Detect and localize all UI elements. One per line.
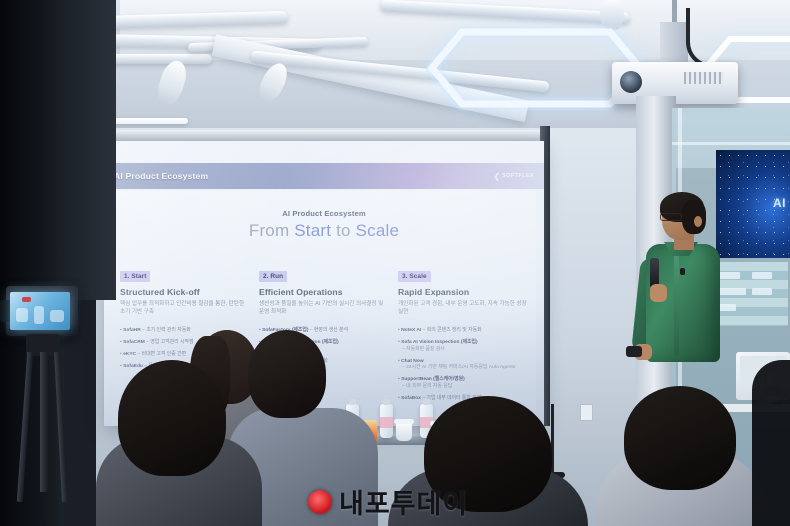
presenter bbox=[620, 196, 728, 396]
glass-mullion-horizontal bbox=[672, 142, 790, 145]
column-heading: Rapid Expansion bbox=[398, 287, 527, 297]
bullet-name: SupportBean (헬스케어/병원) bbox=[401, 377, 465, 382]
list-item: • Sofa AI Vision Inspection (제조업) – 자동화된… bbox=[398, 340, 527, 353]
presenter-glasses bbox=[660, 213, 682, 221]
foreground-silhouette bbox=[752, 360, 790, 526]
brand-chevron-icon: ❮ bbox=[493, 172, 500, 181]
bullet-desc: – 24시간 AI 기반 채팅 커머스/AI 자동응답 Auto Agents bbox=[398, 365, 527, 372]
title-part-scale: Scale bbox=[356, 221, 400, 240]
camera-viewfinder-screen[interactable] bbox=[10, 292, 70, 330]
slide-column-scale: 3. Scale Rapid Expansion 개인화된 고객 경험, 내부 … bbox=[398, 265, 527, 408]
bottle-label bbox=[380, 417, 393, 428]
brand-logo: ❮ SOFTFLEX bbox=[493, 172, 534, 181]
paper-cup bbox=[396, 422, 412, 441]
list-item: • Chat Now – 24시간 AI 기반 채팅 커머스/AI 자동응답 A… bbox=[398, 359, 527, 372]
screen-roller-housing bbox=[104, 130, 548, 141]
slide-topbar: AI Product Ecosystem ❮ SOFTFLEX bbox=[104, 163, 544, 189]
bullet-desc: – 현장의 생산 분석 bbox=[310, 328, 348, 333]
shelf-card bbox=[752, 288, 772, 295]
watermark-text: 내포투데이 bbox=[339, 482, 468, 521]
list-item: • NoteX AI – 회의 콘텐츠 정리 및 자동화 bbox=[398, 328, 527, 335]
list-item: • SupportBean (헬스케어/병원) – 내·외부 문의 자동 응답 bbox=[398, 377, 527, 390]
viewfinder-blob bbox=[34, 306, 44, 324]
column-heading: Efficient Operations bbox=[259, 287, 388, 297]
bullet-name: SofaEdu bbox=[123, 364, 143, 369]
presentation-photo-scene: AI AI Product Ecosystem ❮ SOFTFLEX AI Pr… bbox=[0, 0, 790, 526]
column-subtext: 핵심 업무를 최적화하고 인간비용 절감을 통한, 탄탄한 초기 기반 구축 bbox=[120, 300, 249, 317]
slide-eyebrow: AI Product Ecosystem bbox=[112, 209, 536, 218]
presenter-shirt-placket bbox=[674, 250, 679, 356]
presenter-ear bbox=[694, 216, 702, 227]
projector-cable bbox=[686, 8, 732, 68]
bottle-cap bbox=[383, 399, 390, 405]
watermark-logo-icon bbox=[308, 490, 332, 514]
bullet-name: NoteX AI bbox=[401, 328, 421, 333]
projector-mount bbox=[660, 22, 688, 66]
projector-lens bbox=[620, 71, 642, 93]
bullet-desc: – 내·외부 문의 자동 응답 bbox=[398, 384, 527, 391]
bullet-desc: – 자동화된 품질 검사 bbox=[398, 347, 527, 354]
shelf-card bbox=[752, 272, 772, 279]
column-heading: Structured Kick-off bbox=[120, 287, 249, 297]
brand-logo-text: SOFTFLEX bbox=[502, 173, 534, 179]
viewfinder-blob bbox=[16, 308, 28, 322]
bullet-name: SofaCRM bbox=[123, 340, 145, 345]
bullet-name: SofaBox bbox=[401, 396, 421, 401]
bottle-cap bbox=[423, 399, 430, 405]
slide-title: From Start to Scale bbox=[112, 221, 536, 241]
bullet-name: SofaHR bbox=[123, 328, 141, 333]
watermark: 내포투데이 bbox=[308, 482, 468, 521]
column-badge: 1. Start bbox=[120, 271, 150, 281]
water-bottle bbox=[380, 404, 393, 438]
recording-indicator-icon bbox=[22, 297, 31, 302]
bullet-desc: – 초기 인력 관리 자동화 bbox=[142, 328, 191, 333]
title-part-start: Start bbox=[294, 221, 331, 240]
lapel-mic-icon bbox=[680, 268, 685, 275]
left-wall-panel bbox=[58, 0, 116, 300]
left-wall-dark bbox=[0, 0, 64, 526]
presentation-clicker bbox=[626, 346, 642, 357]
ai-display-label: AI bbox=[773, 196, 786, 210]
bullet-desc: – 비대면 고객 인증 간편 bbox=[137, 352, 186, 357]
bullet-name: Sofa AI Vision Inspection (제조업) bbox=[401, 340, 478, 345]
bullet-desc: – 영업 고객관리 시작점 bbox=[146, 340, 193, 345]
ceiling-pipe-round bbox=[153, 57, 190, 108]
bullet-name: Chat Now bbox=[401, 359, 424, 364]
audience-head-foreground bbox=[624, 386, 736, 490]
title-part-to: to bbox=[331, 221, 355, 240]
audience-head bbox=[248, 330, 326, 418]
title-part-from: From bbox=[249, 221, 294, 240]
column-subtext: 생산성과 품질을 높이는 AI 기반의 실시간 의사결정 및 운영 최적화 bbox=[259, 300, 388, 317]
slide-topbar-title: AI Product Ecosystem bbox=[114, 171, 208, 181]
tripod-leg bbox=[40, 352, 48, 492]
wall-outlet bbox=[580, 404, 593, 421]
column-badge: 3. Scale bbox=[398, 271, 431, 281]
bullet-desc: – 회의 콘텐츠 정리 및 자동화 bbox=[423, 328, 482, 333]
bottle-cap bbox=[349, 399, 356, 405]
audience-head-foreground bbox=[118, 360, 226, 476]
cup-lid bbox=[394, 419, 414, 424]
viewfinder-blob bbox=[50, 310, 64, 322]
presenter-hand-holding-mic bbox=[650, 284, 667, 302]
column-badge: 2. Run bbox=[259, 271, 287, 281]
bullet-name: eKYC bbox=[123, 352, 136, 357]
projector-vent bbox=[684, 72, 724, 84]
column-subtext: 개인화된 고객 경험, 내부 운영 고도화, 지속 가능한 성장 실현 bbox=[398, 300, 527, 317]
column-bullet-list: • NoteX AI – 회의 콘텐츠 정리 및 자동화 • Sofa AI V… bbox=[398, 328, 527, 403]
